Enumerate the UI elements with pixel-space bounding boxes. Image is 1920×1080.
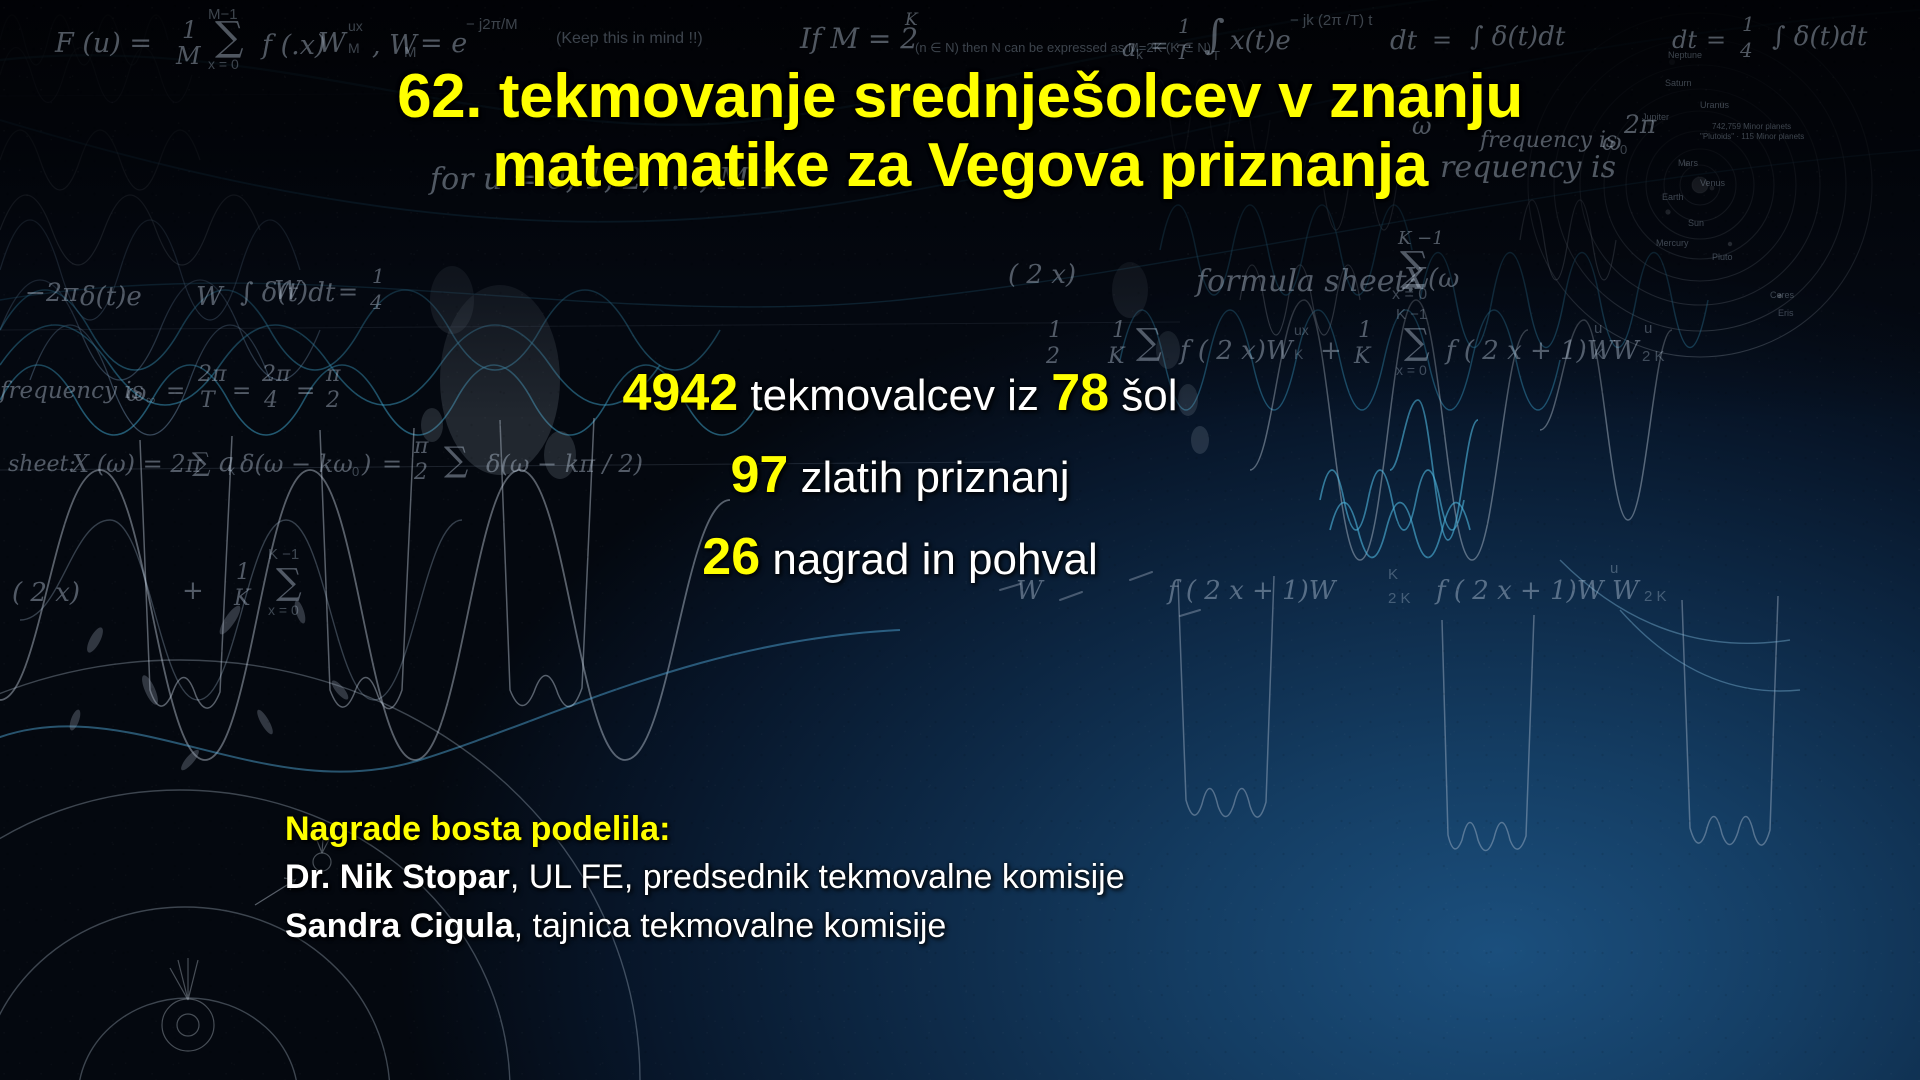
stat-number-competitors: 4942 (622, 364, 738, 422)
stat-label-competitors: tekmovalcev iz (750, 371, 1039, 420)
presenter-role-2: , tajnica tekmovalne komisije (514, 907, 947, 945)
presenter-name-1: Dr. Nik Stopar (285, 858, 510, 896)
presenter-line-2: Sandra Cigula, tajnica tekmovalne komisi… (285, 902, 1125, 950)
stat-number-gold-awards: 97 (730, 446, 788, 504)
presenters-heading: Nagrade bosta podelila: (285, 805, 1125, 853)
presentation-slide: F (u) =1MM−1∑x = 0f (.x)WuxM, WM= e− j2π… (0, 0, 1920, 1080)
presenters-block: Nagrade bosta podelila: Dr. Nik Stopar, … (285, 805, 1125, 950)
presenter-role-1: , UL FE, predsednik tekmovalne komisije (510, 858, 1125, 896)
slide-title: 62. tekmovanje srednješolcev v znanju ma… (0, 62, 1920, 201)
stat-number-schools: 78 (1051, 364, 1109, 422)
stat-row-competitors: 4942 tekmovalcev iz 78 šol (0, 352, 1800, 434)
stat-number-prizes: 26 (702, 528, 760, 586)
presenter-line-1: Dr. Nik Stopar, UL FE, predsednik tekmov… (285, 853, 1125, 901)
stat-label-schools: šol (1121, 371, 1177, 420)
title-line-2: matematike za Vegova priznanja (230, 131, 1690, 200)
stat-label-gold-awards: zlatih priznanj (801, 453, 1070, 502)
presenter-name-2: Sandra Cigula (285, 907, 514, 945)
stat-label-prizes: nagrad in pohval (772, 535, 1097, 584)
stat-row-prizes: 26 nagrad in pohval (0, 516, 1800, 598)
stat-row-gold-awards: 97 zlatih priznanj (0, 434, 1800, 516)
statistics-block: 4942 tekmovalcev iz 78 šol 97 zlatih pri… (0, 352, 1920, 598)
title-line-1: 62. tekmovanje srednješolcev v znanju (230, 62, 1690, 131)
